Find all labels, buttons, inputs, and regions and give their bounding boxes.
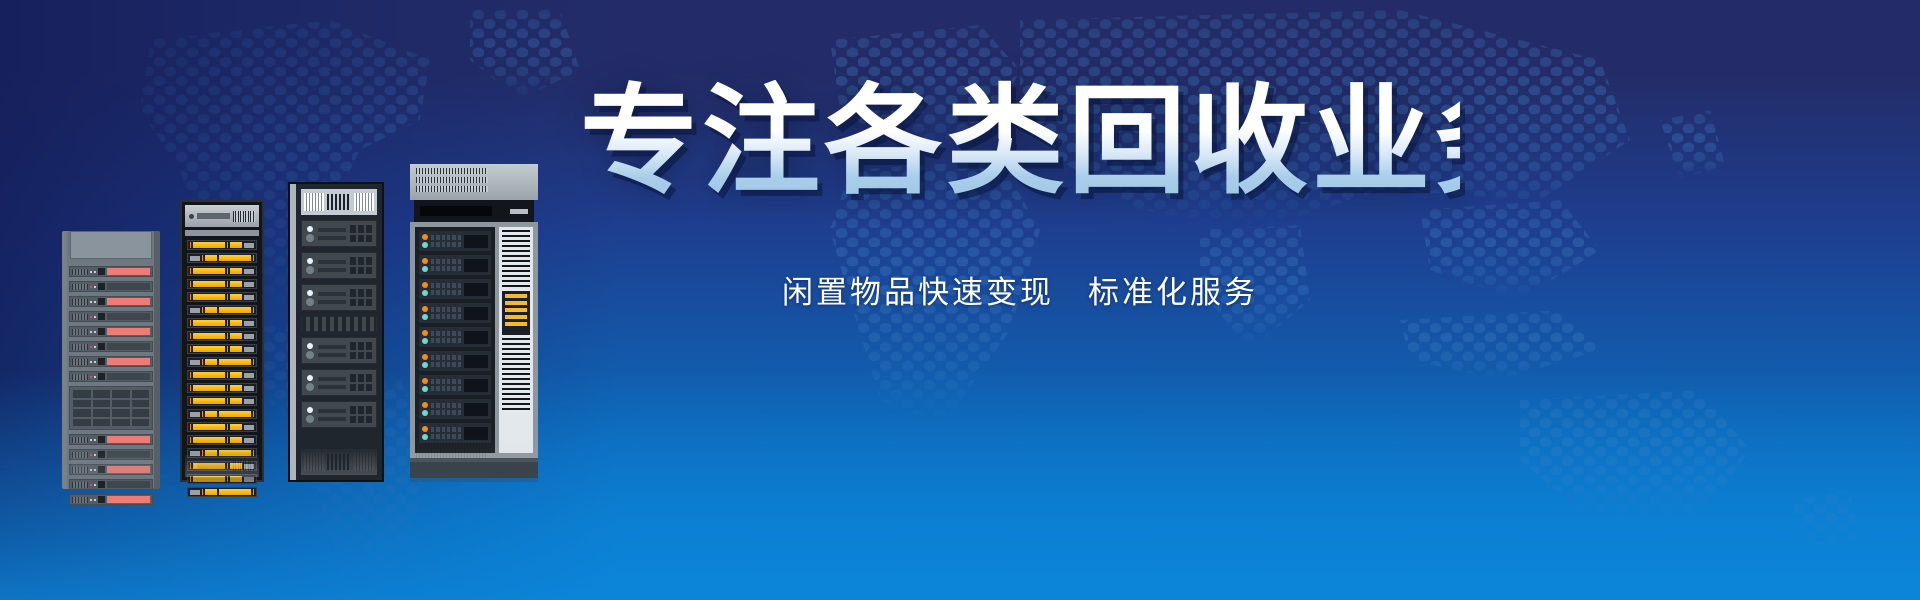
gray-server-rack-icon [62, 224, 160, 482]
led-tower-server-rack-icon [410, 164, 538, 482]
banner-subheadline: 闲置物品快速变现 标准化服务 [580, 267, 1460, 312]
dark-blade-server-rack-icon [288, 182, 384, 482]
black-gold-server-rack-icon [180, 200, 264, 482]
banner-text-block: 专注各类回收业务 闲置物品快速变现 标准化服务 [580, 80, 1460, 312]
banner-headline: 专注各类回收业务 [580, 80, 1460, 205]
hero-banner: 专注各类回收业务 闲置物品快速变现 标准化服务 [0, 0, 1920, 600]
server-racks-illustration [50, 152, 570, 482]
